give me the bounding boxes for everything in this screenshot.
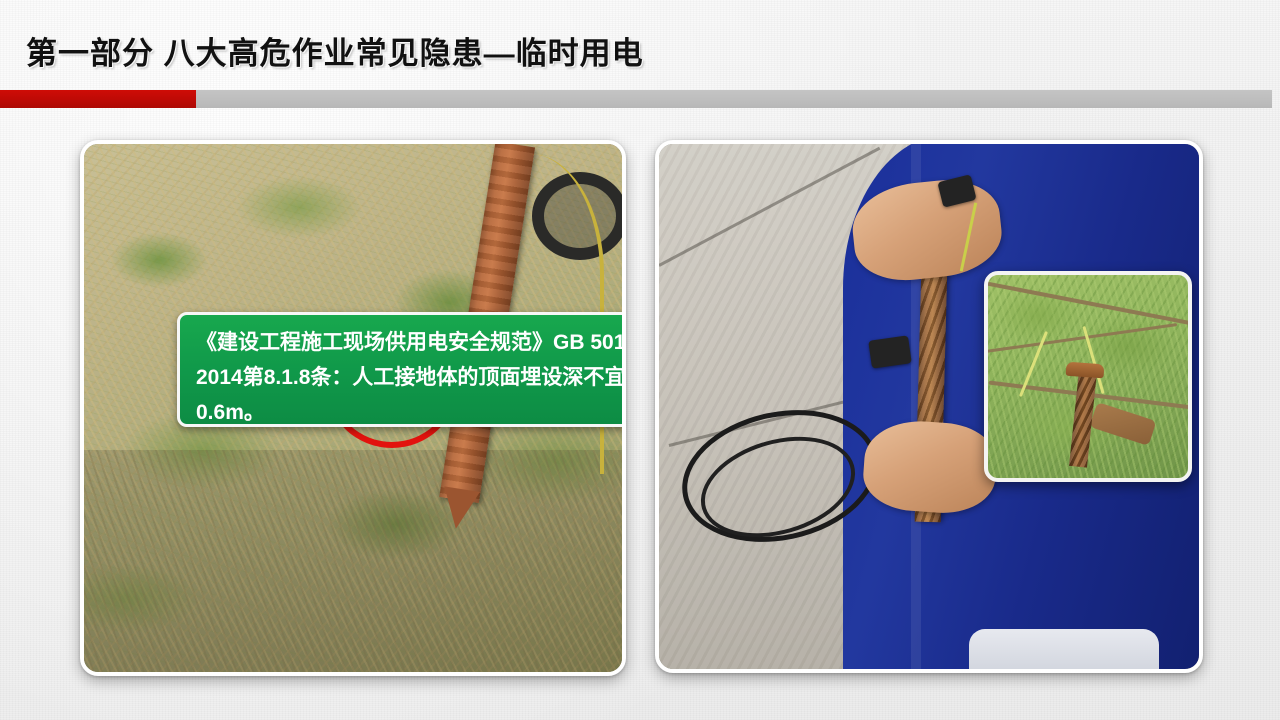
- inset-branch: [984, 281, 1190, 325]
- page-title: 第一部分 八大高危作业常见隐患—临时用电: [26, 28, 644, 73]
- inset-photo-rebar-in-grass: [984, 271, 1192, 482]
- divider-bar-gray: [196, 90, 1272, 108]
- inset-rebar-cap: [1066, 362, 1105, 379]
- right-photo-clamp-lower: [868, 335, 912, 368]
- right-photo-panel: 接地体使用螺纹钢 《施工现场临时用电安全技术规范》JGJ 46-2005 第5.…: [655, 140, 1203, 673]
- left-photo-angle-steel-tip: [438, 486, 480, 531]
- right-photo-worker-rebar: [659, 144, 1199, 669]
- inset-ground-object: [1090, 402, 1157, 446]
- divider-bar-red: [0, 90, 196, 108]
- left-regulation-callout: 《建设工程施工现场供用电安全规范》GB 50194-2014第8.1.8条：人工…: [177, 312, 626, 427]
- right-photo-lower-hand: [861, 418, 999, 517]
- left-photo-panel: 17 《建设工程施工现场供用电安全规范》GB 50194-2014第8.1.8条…: [80, 140, 626, 676]
- right-photo-shoe: [969, 629, 1159, 673]
- slide-canvas: 第一部分 八大高危作业常见隐患—临时用电 17 《建设工程施工现场供用电安全规范…: [0, 0, 1280, 720]
- inset-branch: [984, 323, 1177, 354]
